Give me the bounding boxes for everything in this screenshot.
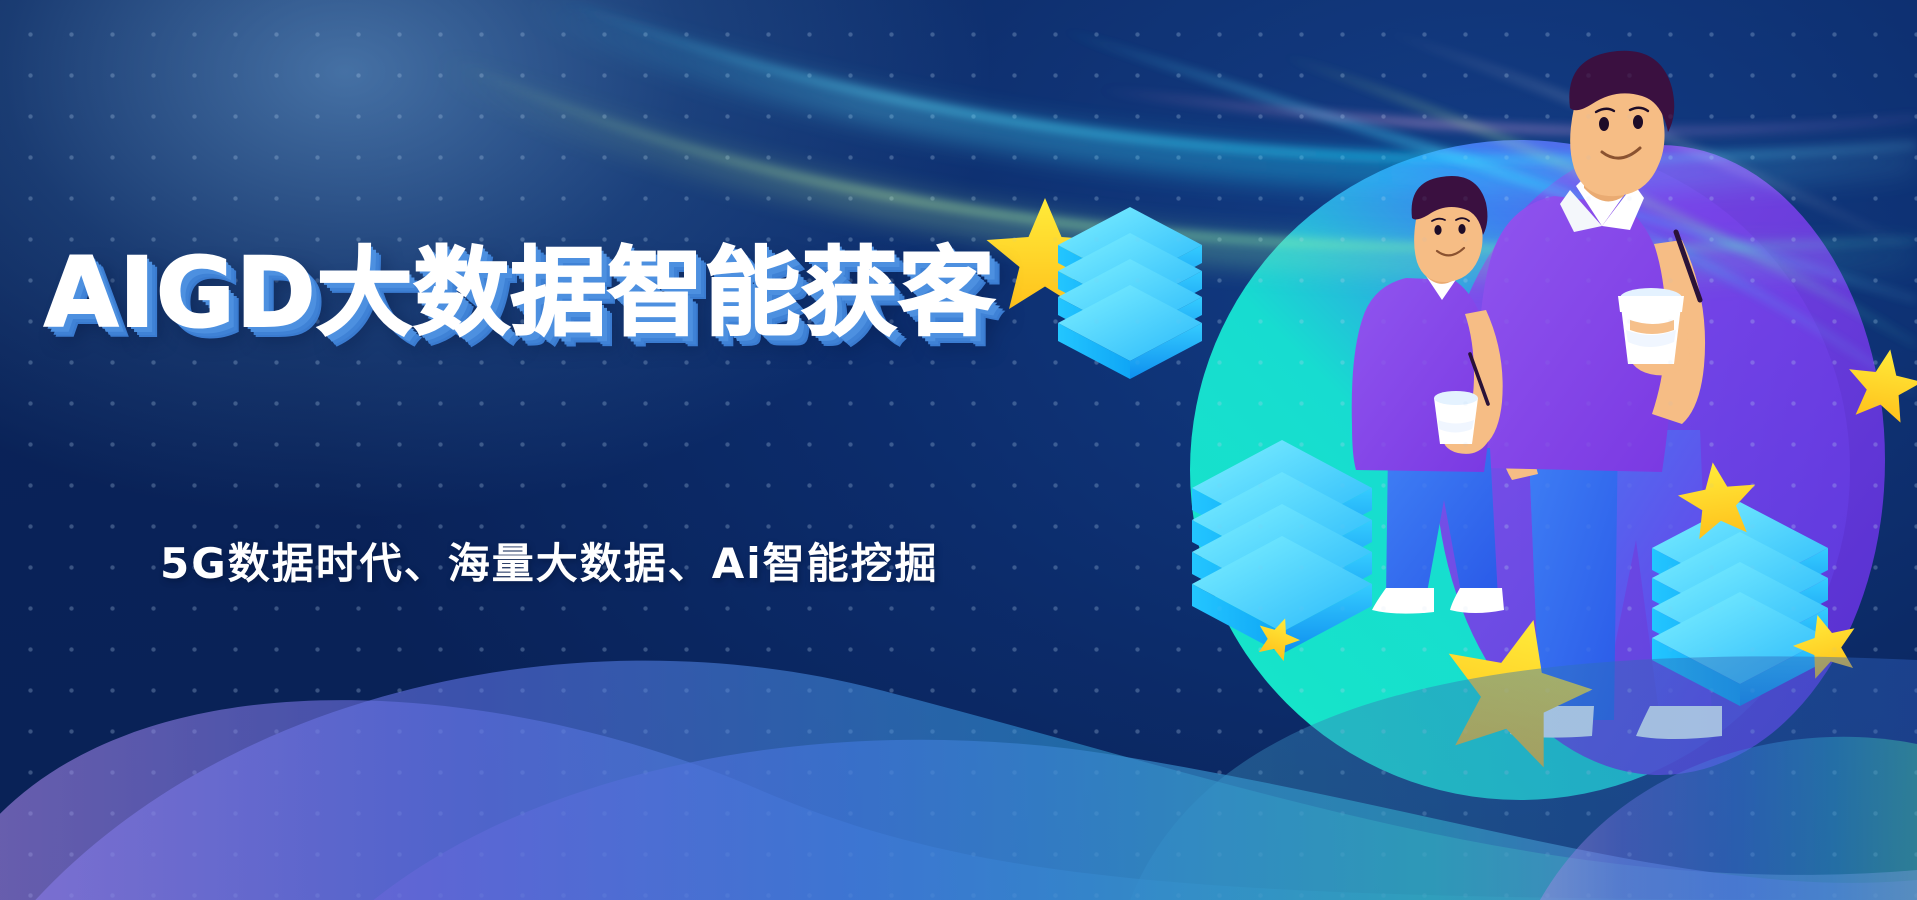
page-subtitle: 5G数据时代、海量大数据、Ai智能挖掘 — [160, 530, 939, 591]
page-title: AIGD大数据智能获客 — [44, 243, 996, 344]
marketing-banner: AIGD大数据智能获客 5G数据时代、海量大数据、Ai智能挖掘 — [0, 0, 1917, 900]
headline-block: AIGD大数据智能获客 5G数据时代、海量大数据、Ai智能挖掘 — [0, 0, 1120, 900]
